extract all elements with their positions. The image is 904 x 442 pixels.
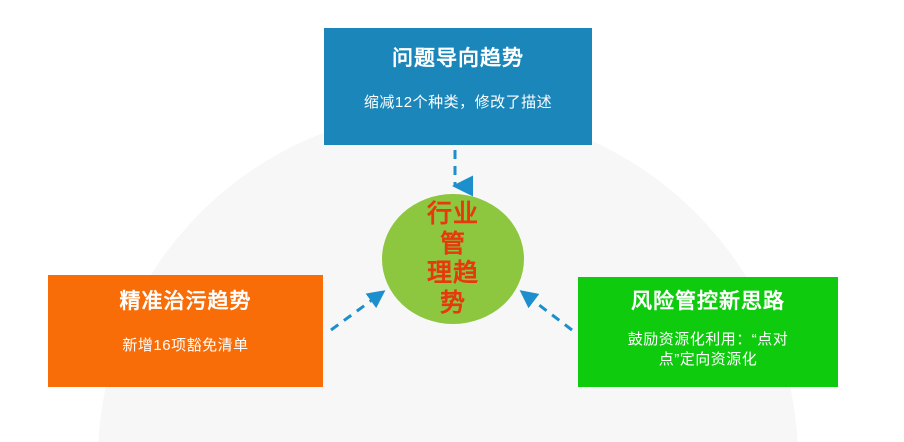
center-node-label: 行业管 理趋势: [420, 200, 486, 318]
node-title-precision-pollution-trend: 精准治污趋势: [120, 289, 252, 314]
node-description-line2: 点”定向资源化: [659, 351, 758, 368]
node-description-precision-pollution-trend: 新增16项豁免清单: [122, 336, 248, 356]
node-precision-pollution-trend[interactable]: 精准治污趋势 新增16项豁免清单: [48, 275, 323, 387]
center-node-industry-management-trend[interactable]: 行业管 理趋势: [382, 194, 524, 324]
center-node-label-line1: 行业管: [427, 200, 479, 258]
center-node-label-line2: 理趋势: [427, 259, 479, 317]
node-description-line1: 鼓励资源化利用：“点对: [628, 331, 789, 348]
node-title-risk-control-new-thinking: 风险管控新思路: [631, 289, 785, 314]
node-risk-control-new-thinking[interactable]: 风险管控新思路 鼓励资源化利用：“点对 点”定向资源化: [578, 277, 838, 387]
diagram-canvas: 行业管 理趋势 问题导向趋势 缩减12个种类，修改了描述 精准治污趋势 新增16…: [0, 0, 904, 442]
node-problem-oriented-trend[interactable]: 问题导向趋势 缩减12个种类，修改了描述: [324, 28, 592, 145]
node-description-problem-oriented-trend: 缩减12个种类，修改了描述: [364, 93, 552, 113]
node-description-risk-control-new-thinking: 鼓励资源化利用：“点对 点”定向资源化: [592, 330, 824, 371]
node-title-problem-oriented-trend: 问题导向趋势: [392, 46, 524, 71]
